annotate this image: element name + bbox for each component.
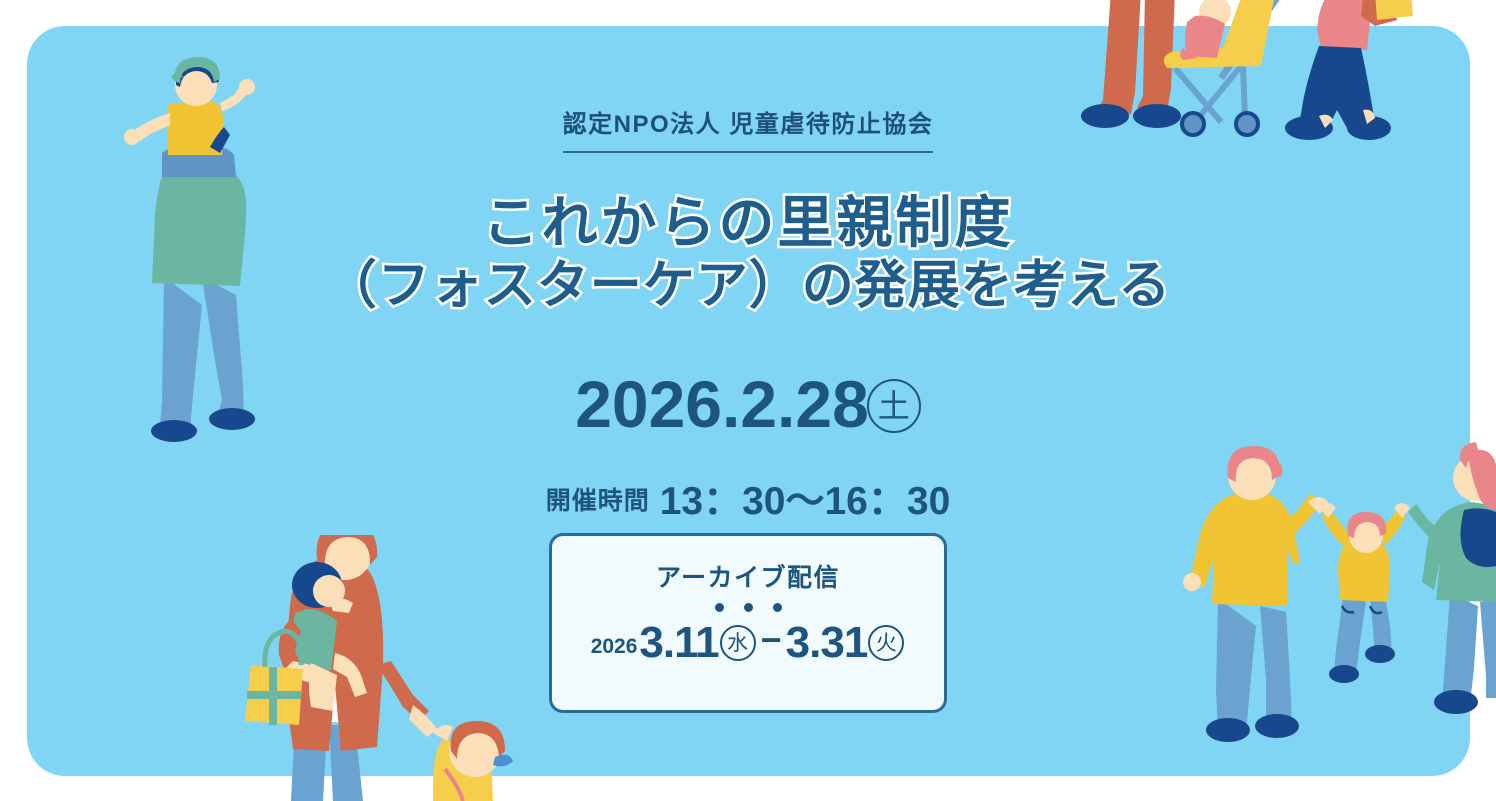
dot-icon bbox=[773, 603, 782, 612]
archive-start-date: 3.11 bbox=[639, 618, 718, 667]
archive-dots-decoration bbox=[552, 603, 944, 612]
page-title: これからの里親制度 （フォスターケア）の発展を考える bbox=[0, 190, 1496, 317]
event-date: 2026.2.28土 bbox=[0, 366, 1496, 442]
event-time-label: 開催時間 bbox=[546, 487, 650, 515]
title-line-2: （フォスターケア）の発展を考える bbox=[0, 256, 1496, 317]
dot-icon bbox=[715, 603, 724, 612]
archive-range-dash: − bbox=[761, 619, 782, 660]
event-time-value: 13：30〜16：30 bbox=[660, 480, 951, 523]
event-time: 開催時間13：30〜16：30 bbox=[0, 470, 1496, 526]
archive-end-weekday-badge: 火 bbox=[868, 625, 904, 661]
mother-with-baby-and-child-illustration bbox=[237, 535, 527, 801]
event-date-weekday-badge: 土 bbox=[867, 379, 921, 433]
poster-canvas: 認定NPO法人 児童虐待防止協会 これからの里親制度 （フォスターケア）の発展を… bbox=[0, 0, 1496, 801]
archive-start-weekday-badge: 水 bbox=[720, 625, 756, 661]
title-line-1: これからの里親制度 bbox=[0, 190, 1496, 256]
organization-name: 認定NPO法人 児童虐待防止協会 bbox=[563, 104, 934, 153]
archive-date-range: 20263.11水−3.31火 bbox=[552, 618, 944, 668]
dot-icon bbox=[744, 603, 753, 612]
organization-line: 認定NPO法人 児童虐待防止協会 bbox=[0, 104, 1496, 153]
archive-heading: アーカイブ配信 bbox=[552, 558, 944, 594]
archive-year: 2026 bbox=[591, 635, 638, 658]
event-date-value: 2026.2.28 bbox=[575, 367, 869, 441]
archive-streaming-box: アーカイブ配信 20263.11水−3.31火 bbox=[549, 533, 947, 713]
archive-end-date: 3.31 bbox=[786, 618, 868, 667]
